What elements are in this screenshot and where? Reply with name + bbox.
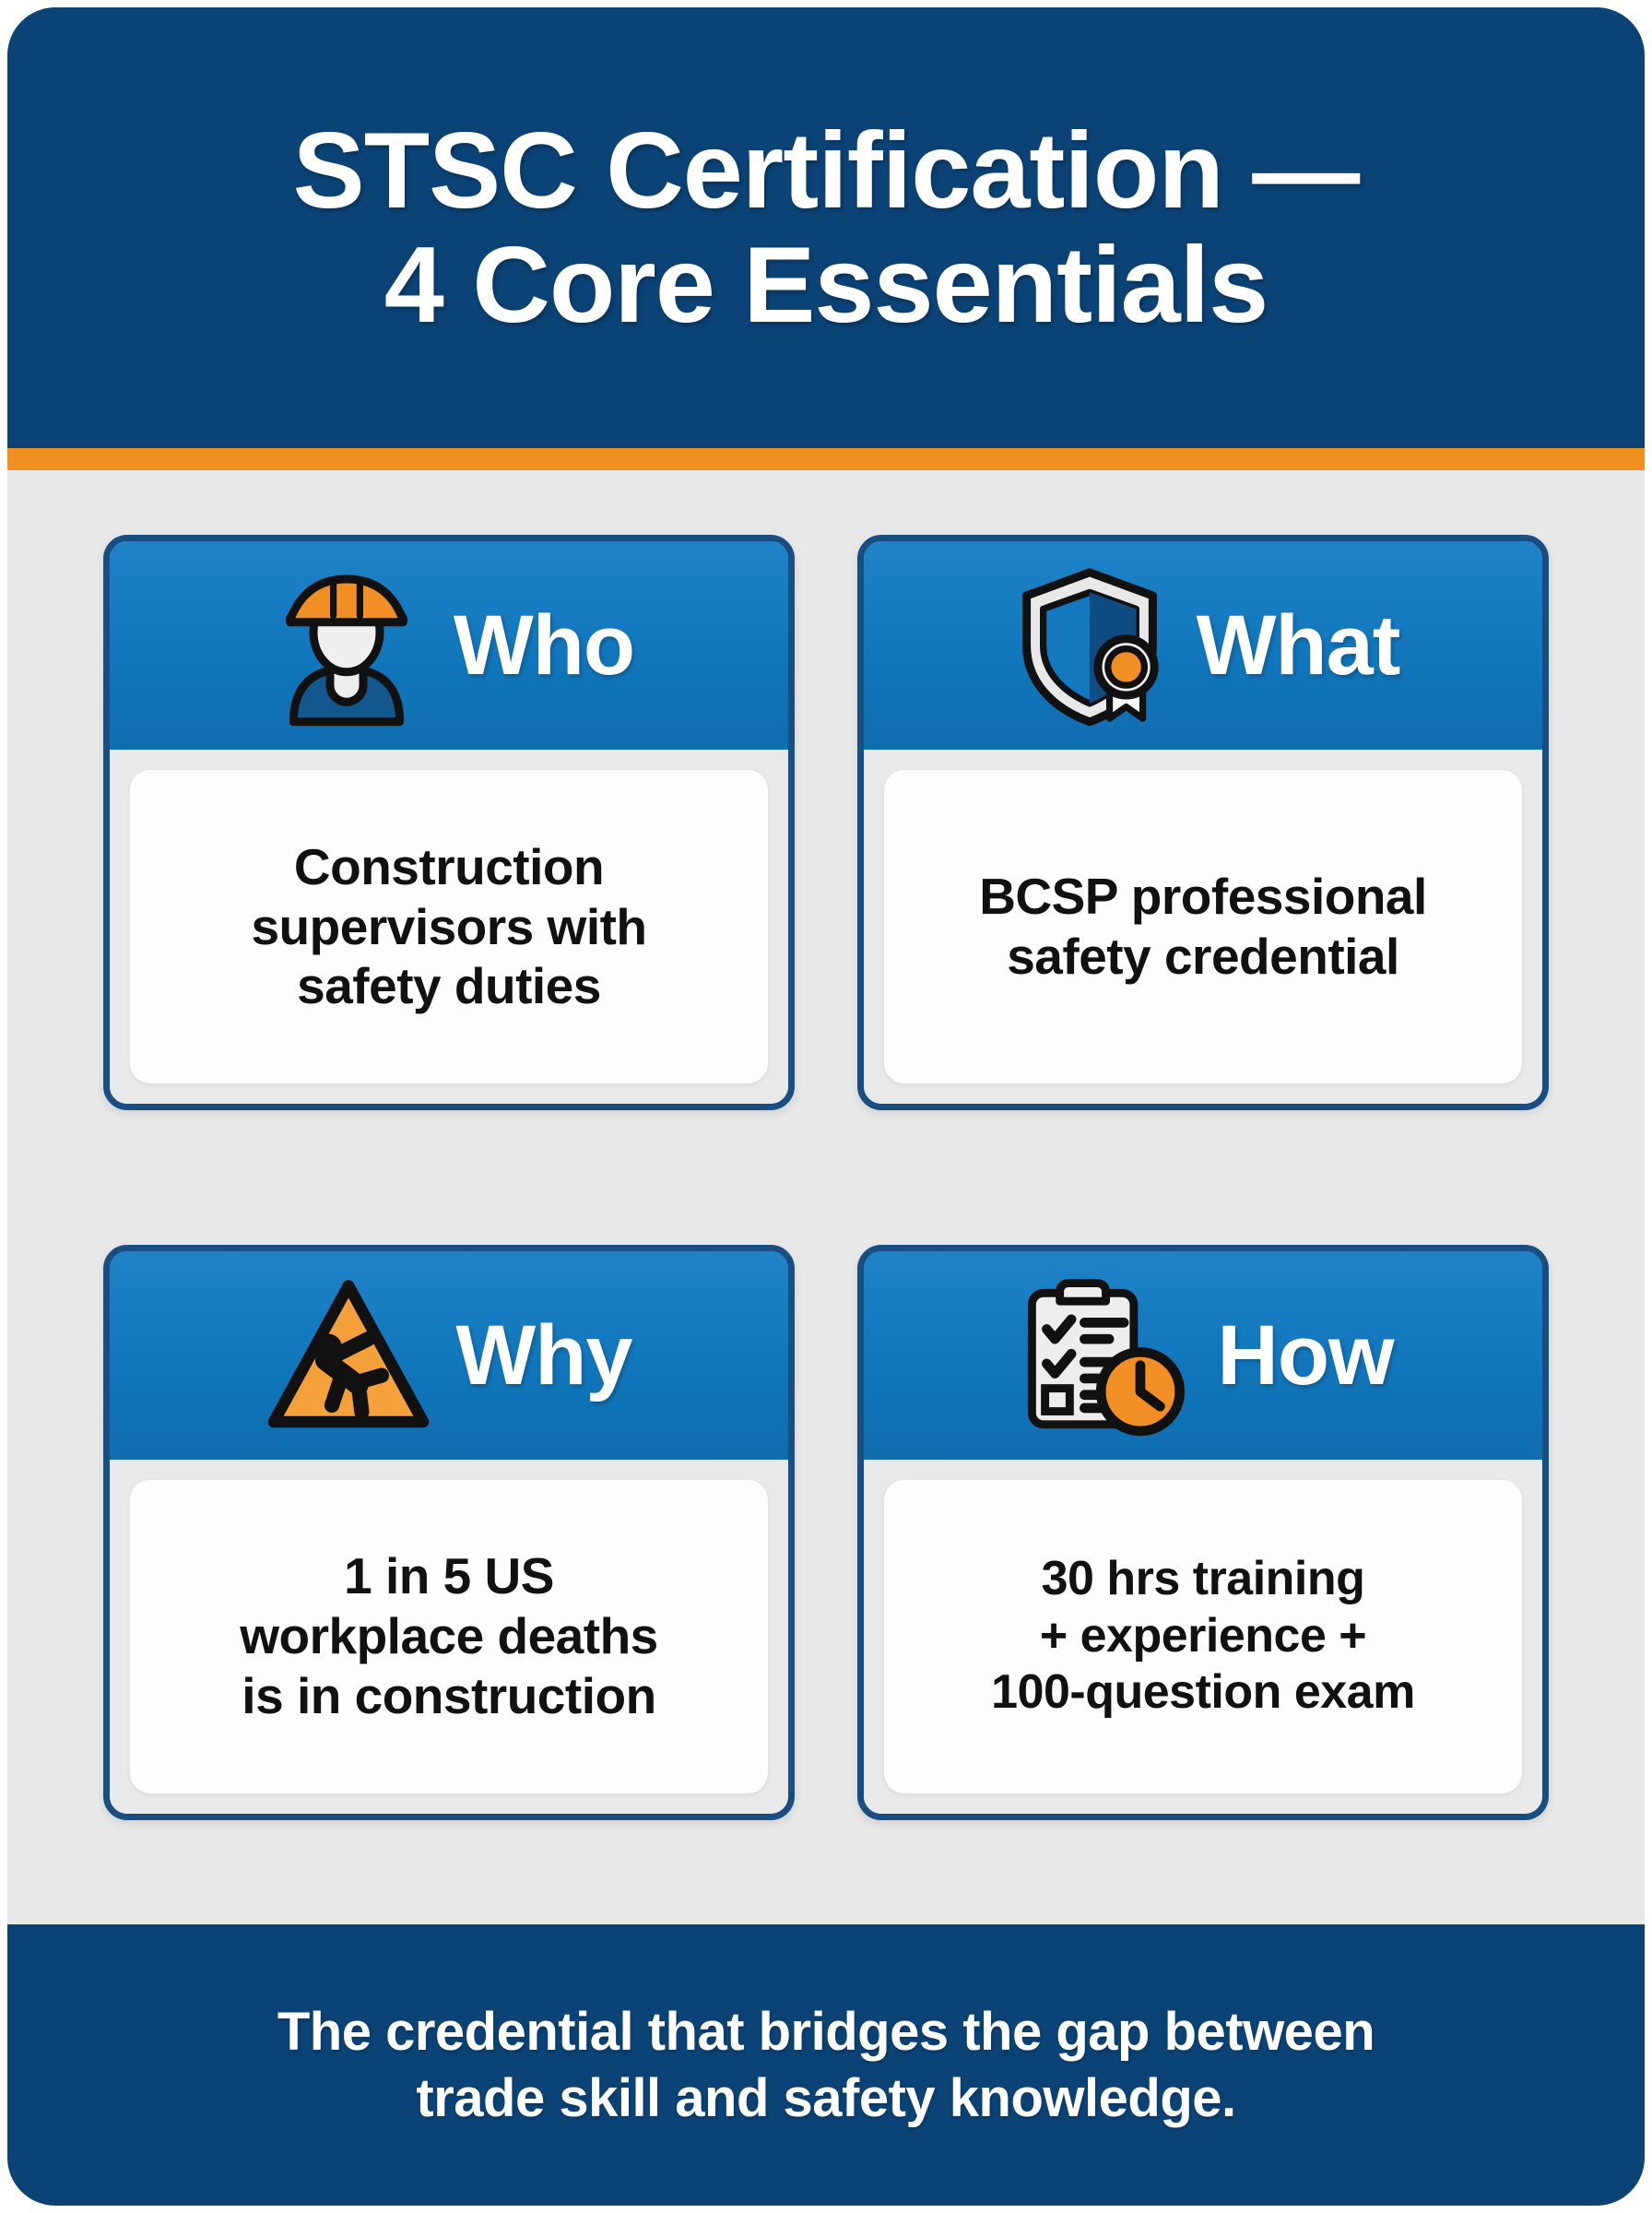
card-how-title: How — [1217, 1313, 1393, 1398]
construction-worker-icon — [264, 562, 430, 728]
cards-grid: Who Construction supervisors with safety… — [7, 470, 1645, 1924]
card-who-text-line-1: Construction — [251, 837, 646, 897]
card-how-text-line-2: + experience + — [991, 1608, 1415, 1664]
poster-header: STSC Certification — 4 Core Essentials — [7, 7, 1645, 448]
footer-tagline-line-2: trade skill and safety knowledge. — [277, 2065, 1375, 2132]
card-how-panel: 30 hrs training + experience + 100-quest… — [884, 1480, 1522, 1793]
card-why-title: Why — [455, 1313, 631, 1398]
card-what-body: BCSP professional safety credential — [864, 750, 1542, 1104]
card-why-header: Why — [110, 1251, 788, 1460]
page-title: STSC Certification — 4 Core Essentials — [256, 113, 1397, 342]
card-who[interactable]: Who Construction supervisors with safety… — [103, 535, 795, 1110]
card-how-text-line-1: 30 hrs training — [991, 1551, 1415, 1607]
shield-badge-icon — [1007, 562, 1173, 728]
card-who-title: Who — [454, 603, 634, 688]
card-why-text-line-1: 1 in 5 US — [240, 1546, 658, 1606]
card-what-text: BCSP professional safety credential — [979, 867, 1427, 987]
card-how-body: 30 hrs training + experience + 100-quest… — [864, 1460, 1542, 1814]
footer-tagline: The credential that bridges the gap betw… — [277, 1999, 1375, 2132]
slip-hazard-warning-icon — [265, 1272, 431, 1438]
card-what-text-line-2: safety credential — [979, 927, 1427, 987]
card-how-text-line-3: 100-question exam — [991, 1664, 1415, 1721]
card-how-header: How — [864, 1251, 1542, 1460]
card-what-text-line-1: BCSP professional — [979, 867, 1427, 927]
card-what-header: What — [864, 541, 1542, 750]
card-how-text: 30 hrs training + experience + 100-quest… — [991, 1551, 1415, 1721]
infographic-poster: STSC Certification — 4 Core Essentials W… — [7, 7, 1645, 2206]
card-why-body: 1 in 5 US workplace deaths is in constru… — [110, 1460, 788, 1814]
footer-tagline-line-1: The credential that bridges the gap betw… — [277, 1999, 1375, 2065]
card-why-text-line-3: is in construction — [240, 1666, 658, 1726]
card-who-header: Who — [110, 541, 788, 750]
card-what-title: What — [1197, 603, 1400, 688]
card-how[interactable]: How 30 hrs training + experience + 100-q… — [857, 1245, 1549, 1820]
page-title-line-1: STSC Certification — — [293, 113, 1360, 228]
card-who-text-line-2: supervisors with — [251, 897, 646, 957]
poster-footer: The credential that bridges the gap betw… — [7, 1924, 1645, 2206]
card-why[interactable]: Why 1 in 5 US workplace deaths is in con… — [103, 1245, 795, 1820]
card-who-body: Construction supervisors with safety dut… — [110, 750, 788, 1104]
card-who-text-line-3: safety duties — [251, 956, 646, 1016]
card-why-text: 1 in 5 US workplace deaths is in constru… — [240, 1546, 658, 1726]
card-what-panel: BCSP professional safety credential — [884, 770, 1522, 1083]
card-what[interactable]: What BCSP professional safety credential — [857, 535, 1549, 1110]
card-who-panel: Construction supervisors with safety dut… — [130, 770, 768, 1083]
orange-accent-divider — [7, 448, 1645, 470]
card-why-text-line-2: workplace deaths — [240, 1606, 658, 1666]
card-why-panel: 1 in 5 US workplace deaths is in constru… — [130, 1480, 768, 1793]
page-title-line-2: 4 Core Essentials — [293, 228, 1360, 342]
clipboard-clock-icon — [1012, 1272, 1193, 1438]
card-who-text: Construction supervisors with safety dut… — [251, 837, 646, 1017]
